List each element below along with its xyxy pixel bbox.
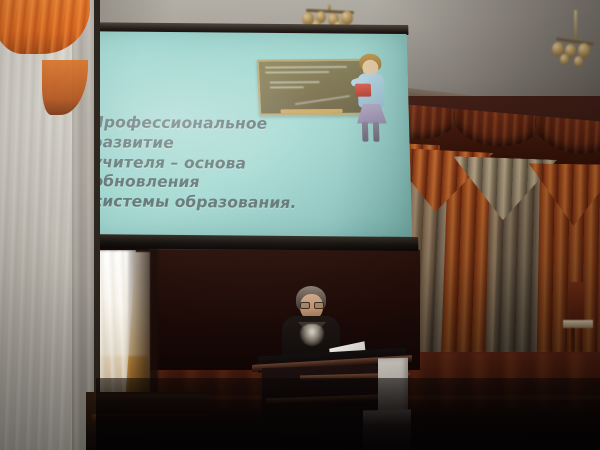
- stage-chair-leg: [571, 328, 575, 354]
- teacher-figure-icon: [349, 52, 396, 144]
- stage-chair-back: [568, 282, 584, 324]
- slide-title-line-2: учителя – основа обновления: [92, 153, 357, 195]
- chalk-tray: [280, 109, 342, 114]
- chandelier-right-icon: [552, 10, 598, 74]
- presentation-photo-scene: Профессиональное развитие учителя – осно…: [0, 0, 600, 450]
- foreground-shadow: [96, 378, 600, 450]
- necklace-icon: [300, 324, 324, 346]
- screen-bottom-bar: [62, 234, 419, 251]
- stage-chair-seat: [563, 320, 593, 328]
- slide-title-text: Профессиональное развитие учителя – осно…: [91, 113, 358, 214]
- screen-surface: Профессиональное развитие учителя – осно…: [60, 31, 412, 238]
- slide-title-line-3: системы образования.: [93, 193, 358, 215]
- projection-screen: Профессиональное развитие учителя – осно…: [58, 22, 415, 265]
- slide-title-line-1: Профессиональное развитие: [91, 113, 356, 155]
- glasses-icon: [300, 302, 323, 307]
